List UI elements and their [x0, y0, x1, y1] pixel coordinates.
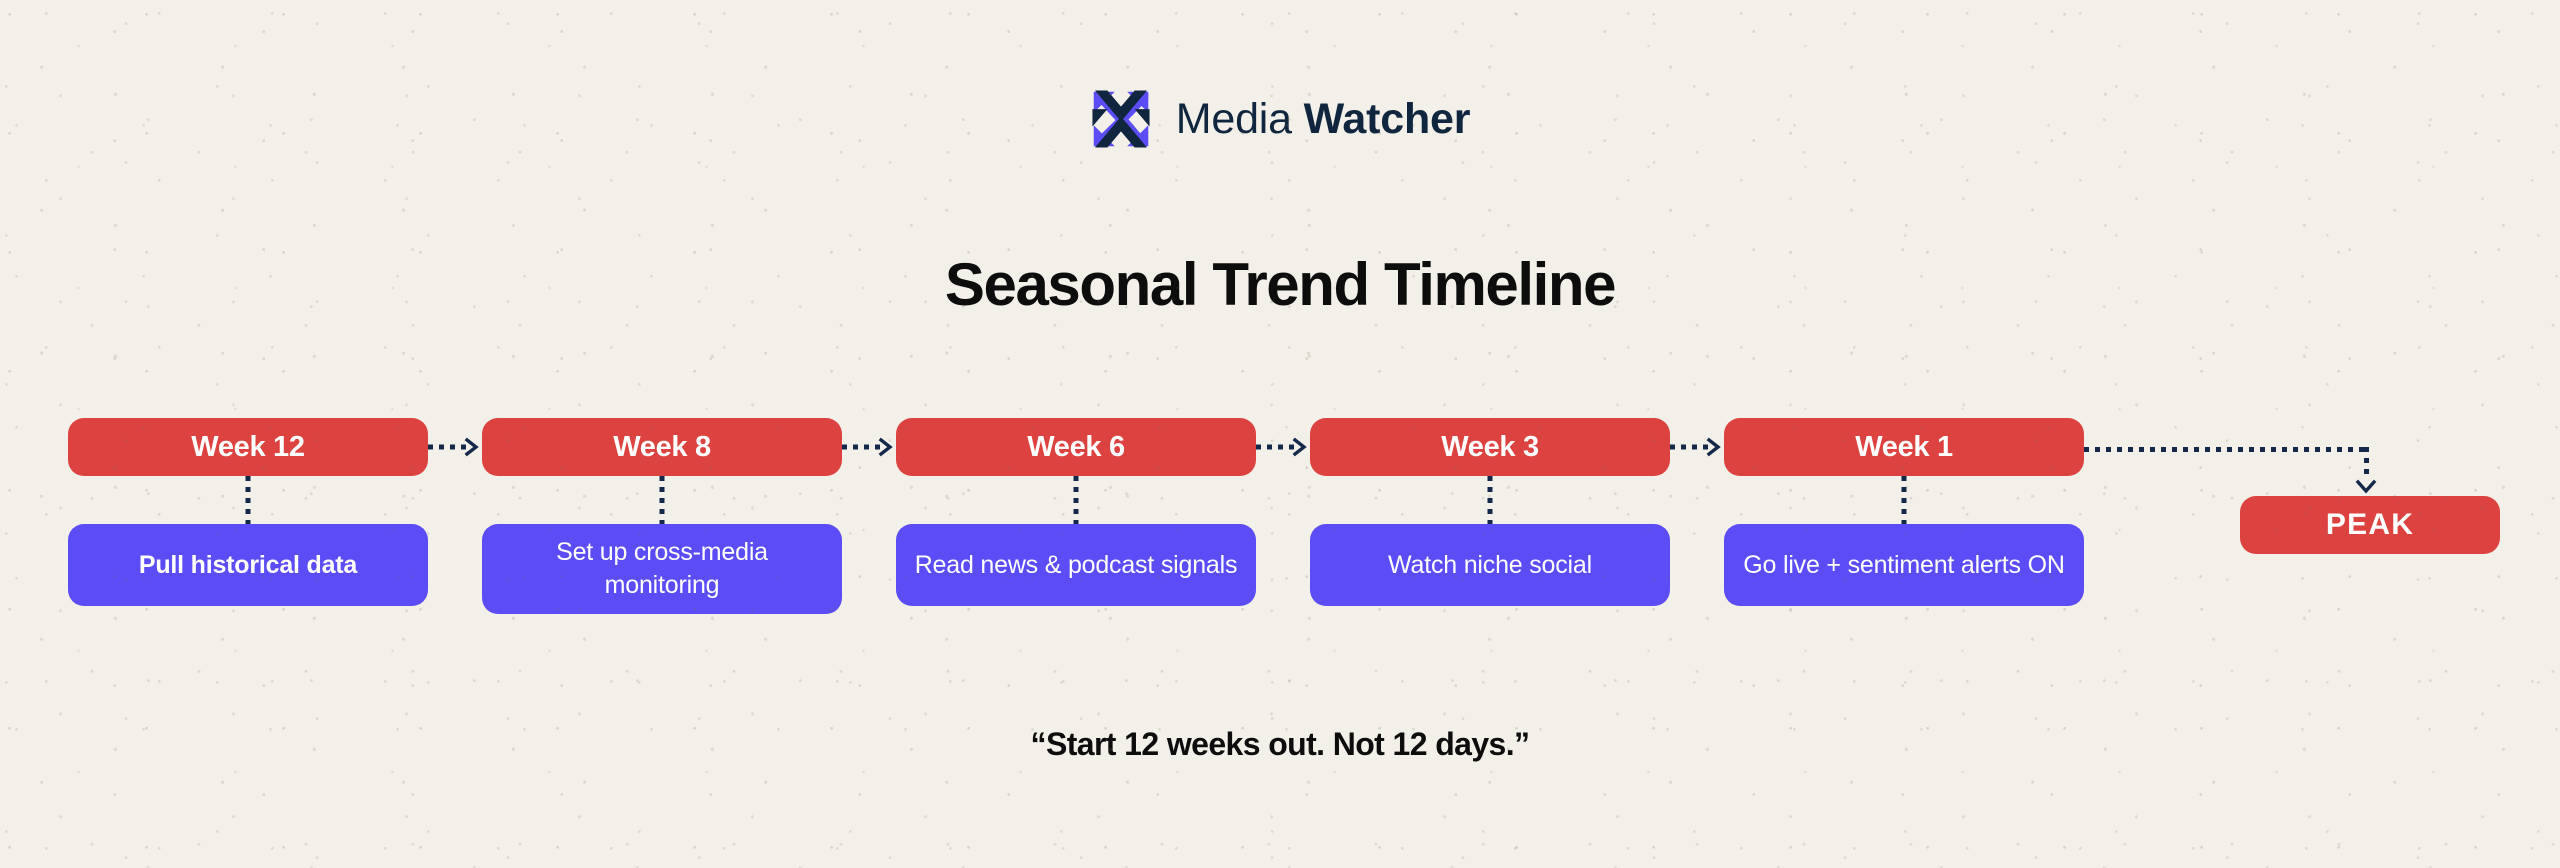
brand-wordmark: Media Watcher: [1176, 98, 1471, 141]
vertical-dotted-connector: [660, 476, 665, 524]
chevron-right-icon: [1704, 437, 1724, 457]
stage-connector: [842, 437, 896, 457]
dotted-line: [1670, 445, 1708, 450]
brand-name-light: Media: [1176, 95, 1292, 143]
timeline-stage-week-6: Week 6 Read news & podcast signals: [896, 418, 1256, 606]
brand-name-bold: Watcher: [1304, 95, 1471, 143]
dotted-line: [1256, 445, 1294, 450]
timeline-stage-week-8: Week 8 Set up cross-media monitoring: [482, 418, 842, 614]
dotted-line: [428, 445, 466, 450]
week-pill[interactable]: Week 8: [482, 418, 842, 476]
chevron-right-icon: [1290, 437, 1310, 457]
vertical-dotted-connector: [1488, 476, 1493, 524]
timeline-stage-week-1: Week 1 Go live + sentiment alerts ON: [1724, 418, 2084, 606]
page-title: Seasonal Trend Timeline: [0, 250, 2560, 319]
stage-connector: [1670, 437, 1724, 457]
task-pill[interactable]: Watch niche social: [1310, 524, 1670, 606]
vertical-dotted-connector: [246, 476, 251, 524]
task-pill[interactable]: Go live + sentiment alerts ON: [1724, 524, 2084, 606]
vertical-dotted-connector: [1902, 476, 1907, 524]
task-pill[interactable]: Set up cross-media monitoring: [482, 524, 842, 614]
chevron-right-icon: [462, 437, 482, 457]
timeline: Week 12 Pull historical data Week 8 Set …: [68, 418, 2500, 648]
brand-header: Media Watcher: [0, 88, 2560, 150]
task-pill[interactable]: Read news & podcast signals: [896, 524, 1256, 606]
timeline-stage-week-3: Week 3 Watch niche social: [1310, 418, 1670, 606]
stage-connector: [1256, 437, 1310, 457]
week-pill[interactable]: Week 6: [896, 418, 1256, 476]
week-pill[interactable]: Week 12: [68, 418, 428, 476]
chevron-right-icon: [876, 437, 896, 457]
x-arrows-logo-icon: [1090, 88, 1152, 150]
week-pill[interactable]: Week 3: [1310, 418, 1670, 476]
timeline-stage-week-12: Week 12 Pull historical data: [68, 418, 428, 606]
stage-connector: [428, 437, 482, 457]
week-pill[interactable]: Week 1: [1724, 418, 2084, 476]
dotted-line-horizontal: [2084, 447, 2368, 452]
vertical-dotted-connector: [1074, 476, 1079, 524]
peak-pill[interactable]: PEAK: [2240, 496, 2500, 554]
footer-quote: “Start 12 weeks out. Not 12 days.”: [0, 726, 2560, 763]
dotted-line: [842, 445, 880, 450]
task-pill[interactable]: Pull historical data: [68, 524, 428, 606]
